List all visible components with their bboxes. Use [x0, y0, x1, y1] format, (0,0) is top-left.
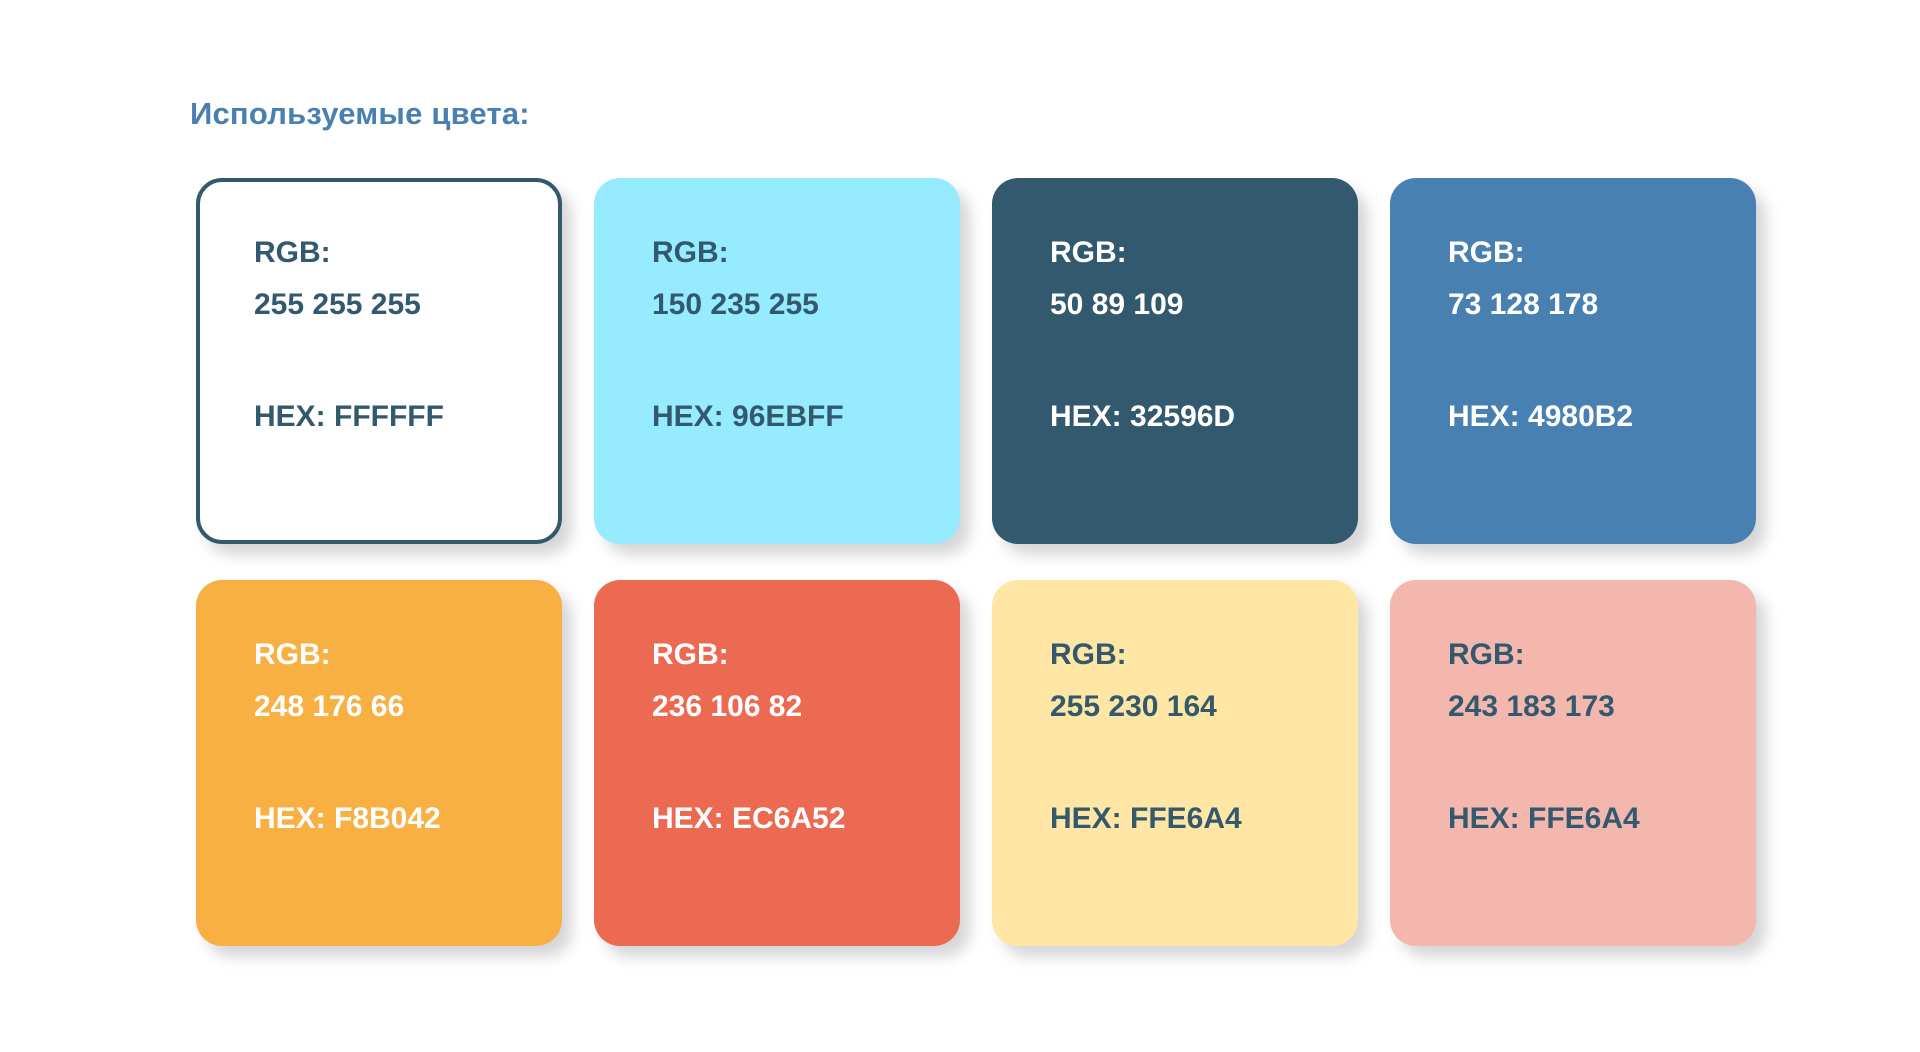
color-swatch-card[interactable]: RGB:248 176 66HEX: F8B042	[196, 580, 562, 946]
swatch-rgb-label: RGB:	[1448, 238, 1756, 268]
swatch-rgb-values: 243 183 173	[1448, 692, 1756, 722]
swatch-hex-line: HEX: 32596D	[1050, 402, 1358, 432]
swatch-rgb-values: 50 89 109	[1050, 290, 1358, 320]
swatch-hex-line: HEX: FFFFFF	[254, 402, 558, 432]
swatch-rgb-values: 150 235 255	[652, 290, 960, 320]
swatch-rgb-label: RGB:	[1050, 238, 1358, 268]
swatch-rgb-values: 255 230 164	[1050, 692, 1358, 722]
swatch-rgb-label: RGB:	[1050, 640, 1358, 670]
swatch-hex-line: HEX: EC6A52	[652, 804, 960, 834]
swatch-hex-line: HEX: 4980B2	[1448, 402, 1756, 432]
swatch-hex-line: HEX: 96EBFF	[652, 402, 960, 432]
swatch-rgb-label: RGB:	[254, 238, 558, 268]
swatch-hex-line: HEX: FFE6A4	[1050, 804, 1358, 834]
color-swatch-card[interactable]: RGB:73 128 178HEX: 4980B2	[1390, 178, 1756, 544]
swatch-hex-line: HEX: FFE6A4	[1448, 804, 1756, 834]
color-swatch-card[interactable]: RGB:236 106 82HEX: EC6A52	[594, 580, 960, 946]
color-swatch-card[interactable]: RGB:255 230 164HEX: FFE6A4	[992, 580, 1358, 946]
swatch-rgb-values: 73 128 178	[1448, 290, 1756, 320]
swatch-rgb-label: RGB:	[254, 640, 562, 670]
color-palette-page: Используемые цвета: RGB:255 255 255HEX: …	[0, 0, 1920, 1052]
swatch-rgb-label: RGB:	[652, 238, 960, 268]
color-swatch-card[interactable]: RGB:50 89 109HEX: 32596D	[992, 178, 1358, 544]
color-swatch-card[interactable]: RGB:150 235 255HEX: 96EBFF	[594, 178, 960, 544]
page-title: Используемые цвета:	[190, 96, 530, 132]
swatch-rgb-label: RGB:	[1448, 640, 1756, 670]
color-swatch-grid: RGB:255 255 255HEX: FFFFFFRGB:150 235 25…	[196, 178, 1756, 946]
swatch-rgb-values: 255 255 255	[254, 290, 558, 320]
color-swatch-card[interactable]: RGB:243 183 173HEX: FFE6A4	[1390, 580, 1756, 946]
swatch-rgb-label: RGB:	[652, 640, 960, 670]
color-swatch-card[interactable]: RGB:255 255 255HEX: FFFFFF	[196, 178, 562, 544]
swatch-rgb-values: 236 106 82	[652, 692, 960, 722]
swatch-hex-line: HEX: F8B042	[254, 804, 562, 834]
swatch-rgb-values: 248 176 66	[254, 692, 562, 722]
